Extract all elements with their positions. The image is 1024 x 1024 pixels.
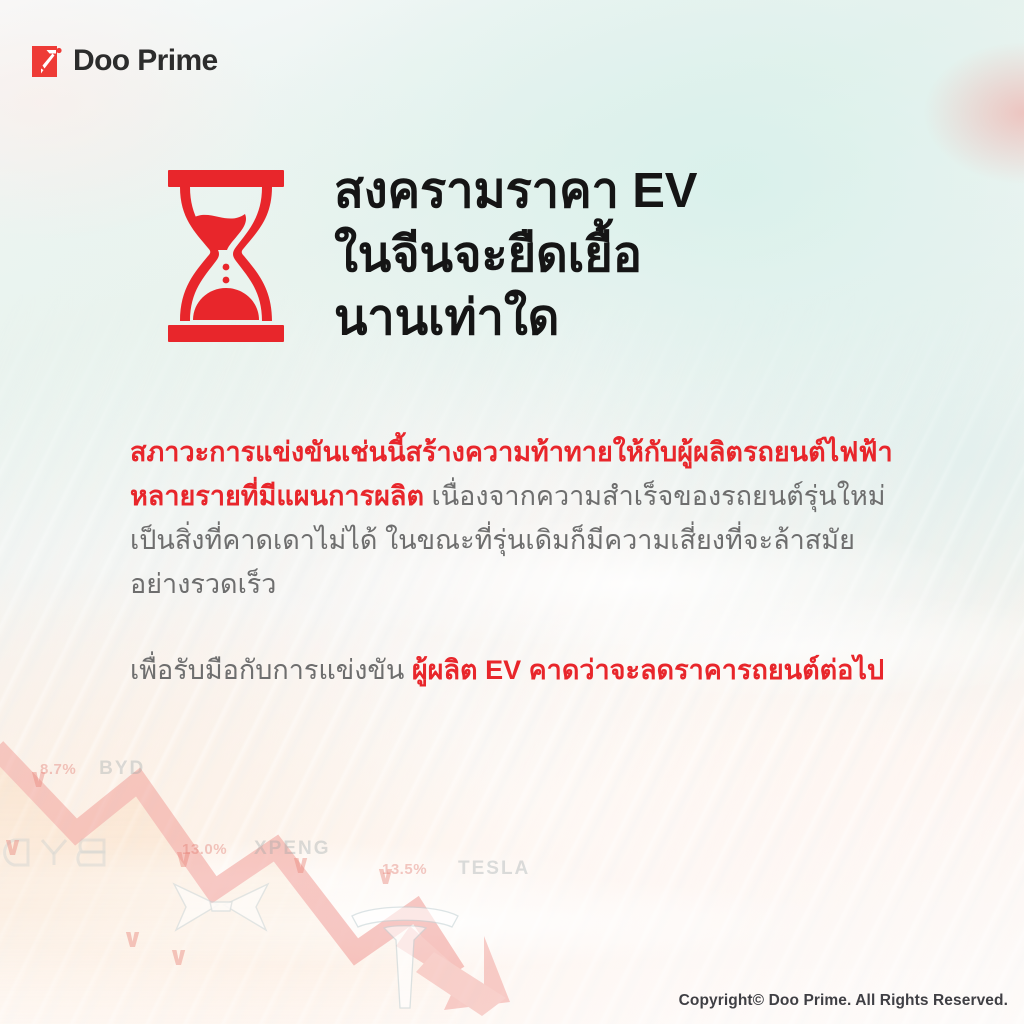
byd-brand-label: BYD (99, 758, 145, 779)
paragraph-two: เพื่อรับมือกับการแข่งขัน ผู้ผลิต EV คาดว… (130, 648, 910, 692)
paragraph-two-text: เพื่อรับมือกับการแข่งขัน (130, 655, 412, 685)
chart-annotation-byd: 8.7% BYD (40, 758, 145, 780)
chevron-down-icon: ∨ (168, 943, 189, 969)
paragraph-spacer (130, 606, 910, 648)
hourglass-icon (160, 170, 292, 342)
brand-logo[interactable]: Doo Prime (32, 44, 218, 78)
paragraph-two-highlight: ผู้ผลิต EV คาดว่าจะลดราคารถยนต์ต่อไป (412, 655, 884, 685)
brand-logo-text: Doo Prime (73, 44, 218, 78)
tesla-brand-label: TESLA (458, 858, 530, 879)
poster-canvas: 8.7% BYD 13.0% XPENG 13.5% TESLA ∨ ∨ ∨ ∨… (0, 0, 1024, 1024)
chevron-down-icon: ∨ (28, 765, 49, 791)
page-title: สงครามราคา EV ในจีนจะยืดเยื้อ นานเท่าใด (334, 158, 697, 351)
paragraph-one: สภาวะการแข่งขันเช่นนี้สร้างความท้าทายให้… (130, 430, 910, 606)
chart-annotation-tesla: 13.5% TESLA (382, 858, 530, 880)
copyright-notice: Copyright© Doo Prime. All Rights Reserve… (679, 992, 1008, 1010)
chevron-down-icon: ∨ (290, 851, 311, 877)
chevron-down-icon: ∨ (2, 833, 23, 859)
doo-prime-mark-icon (32, 46, 62, 77)
hero-section: สงครามราคา EV ในจีนจะยืดเยื้อ นานเท่าใด (160, 158, 960, 351)
chevron-down-icon: ∨ (375, 862, 396, 888)
chevron-down-icon: ∨ (122, 925, 143, 951)
chevron-down-icon: ∨ (173, 845, 194, 871)
tesla-logo-icon (340, 900, 470, 1012)
xpeng-logo-icon (168, 878, 274, 940)
body-copy: สภาวะการแข่งขันเช่นนี้สร้างความท้าทายให้… (130, 430, 910, 692)
